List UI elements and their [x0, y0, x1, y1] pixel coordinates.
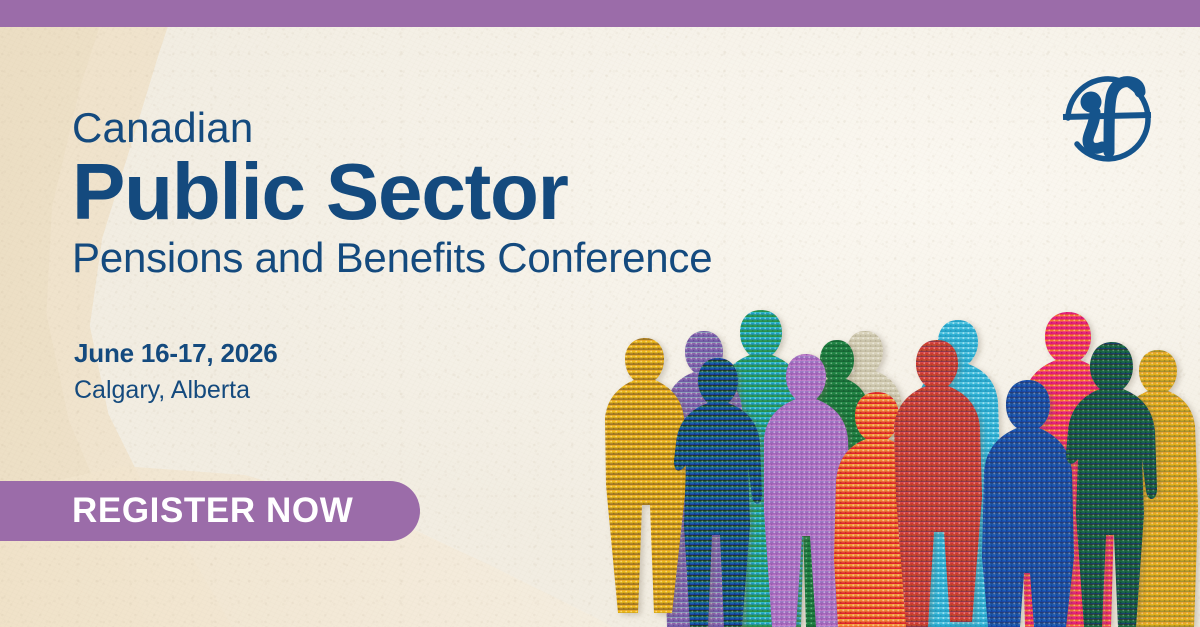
headline-block: Canadian Public Sector Pensions and Bene… [72, 104, 712, 283]
figure-black-blue [666, 355, 770, 627]
page-title: Public Sector [72, 150, 712, 234]
if-logo[interactable] [1047, 62, 1165, 170]
conference-promo-banner: Canadian Public Sector Pensions and Bene… [0, 0, 1200, 627]
figure-red-maroon [888, 337, 986, 627]
headline-kicker: Canadian [72, 104, 712, 152]
register-now-button[interactable]: REGISTER NOW [0, 481, 420, 541]
event-dates: June 16-17, 2026 [74, 337, 278, 369]
event-details-block: June 16-17, 2026 Calgary, Alberta [74, 337, 278, 406]
register-now-label: REGISTER NOW [0, 491, 353, 531]
top-purple-bar [0, 0, 1200, 27]
figure-dark-green [1062, 339, 1164, 627]
event-location: Calgary, Alberta [74, 374, 278, 406]
diverse-crowd-illustration [600, 268, 1200, 627]
